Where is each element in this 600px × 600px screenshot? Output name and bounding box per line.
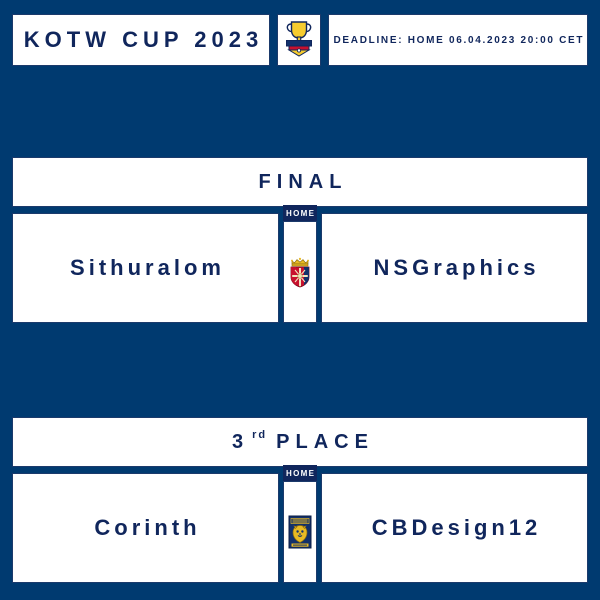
tigres-uanl-crest-icon	[288, 515, 312, 549]
deadline-panel: DEADLINE: HOME 06.04.2023 20:00 CET	[328, 14, 588, 66]
match-final-away-team[interactable]: NSGraphics	[321, 213, 588, 323]
round-title-third-place-label: 3rdPLACE	[226, 431, 374, 454]
home-badge-label: HOME	[283, 205, 317, 221]
round-title-third-place: 3rdPLACE	[12, 417, 588, 467]
bracket-graphic: KOTW CUP 2023 DEADLINE: HOME 06	[0, 0, 600, 600]
tournament-title-panel: KOTW CUP 2023	[12, 14, 270, 66]
match-third-place: Corinth HOME	[12, 473, 588, 583]
team-name: Corinth	[90, 515, 200, 541]
match-third-place-center: HOME	[283, 465, 317, 583]
round-title-word: PLACE	[270, 431, 374, 454]
round-title-final: FINAL	[12, 157, 588, 207]
page-title: KOTW CUP 2023	[19, 27, 263, 53]
match-final-center: HOME	[283, 205, 317, 323]
team-name: Sithuralom	[66, 255, 225, 281]
deadline-text: DEADLINE: HOME 06.04.2023 20:00 CET	[332, 35, 584, 46]
match-final: Sithuralom HOME	[12, 213, 588, 323]
tournament-logo-panel	[277, 14, 321, 66]
match-third-place-crest-panel	[283, 481, 317, 583]
round-title-ordinal-suffix: rd	[246, 429, 267, 441]
match-third-place-away-team[interactable]: CBDesign12	[321, 473, 588, 583]
home-badge-label: HOME	[283, 465, 317, 481]
team-name: NSGraphics	[370, 255, 540, 281]
match-final-crest-panel	[283, 221, 317, 323]
round-title-final-label: FINAL	[253, 171, 348, 194]
match-final-home-team[interactable]: Sithuralom	[12, 213, 279, 323]
match-third-place-home-team[interactable]: Corinth	[12, 473, 279, 583]
kotw-cup-trophy-badge-icon	[284, 19, 314, 62]
osasuna-crest-icon	[287, 255, 313, 289]
team-name: CBDesign12	[368, 515, 542, 541]
